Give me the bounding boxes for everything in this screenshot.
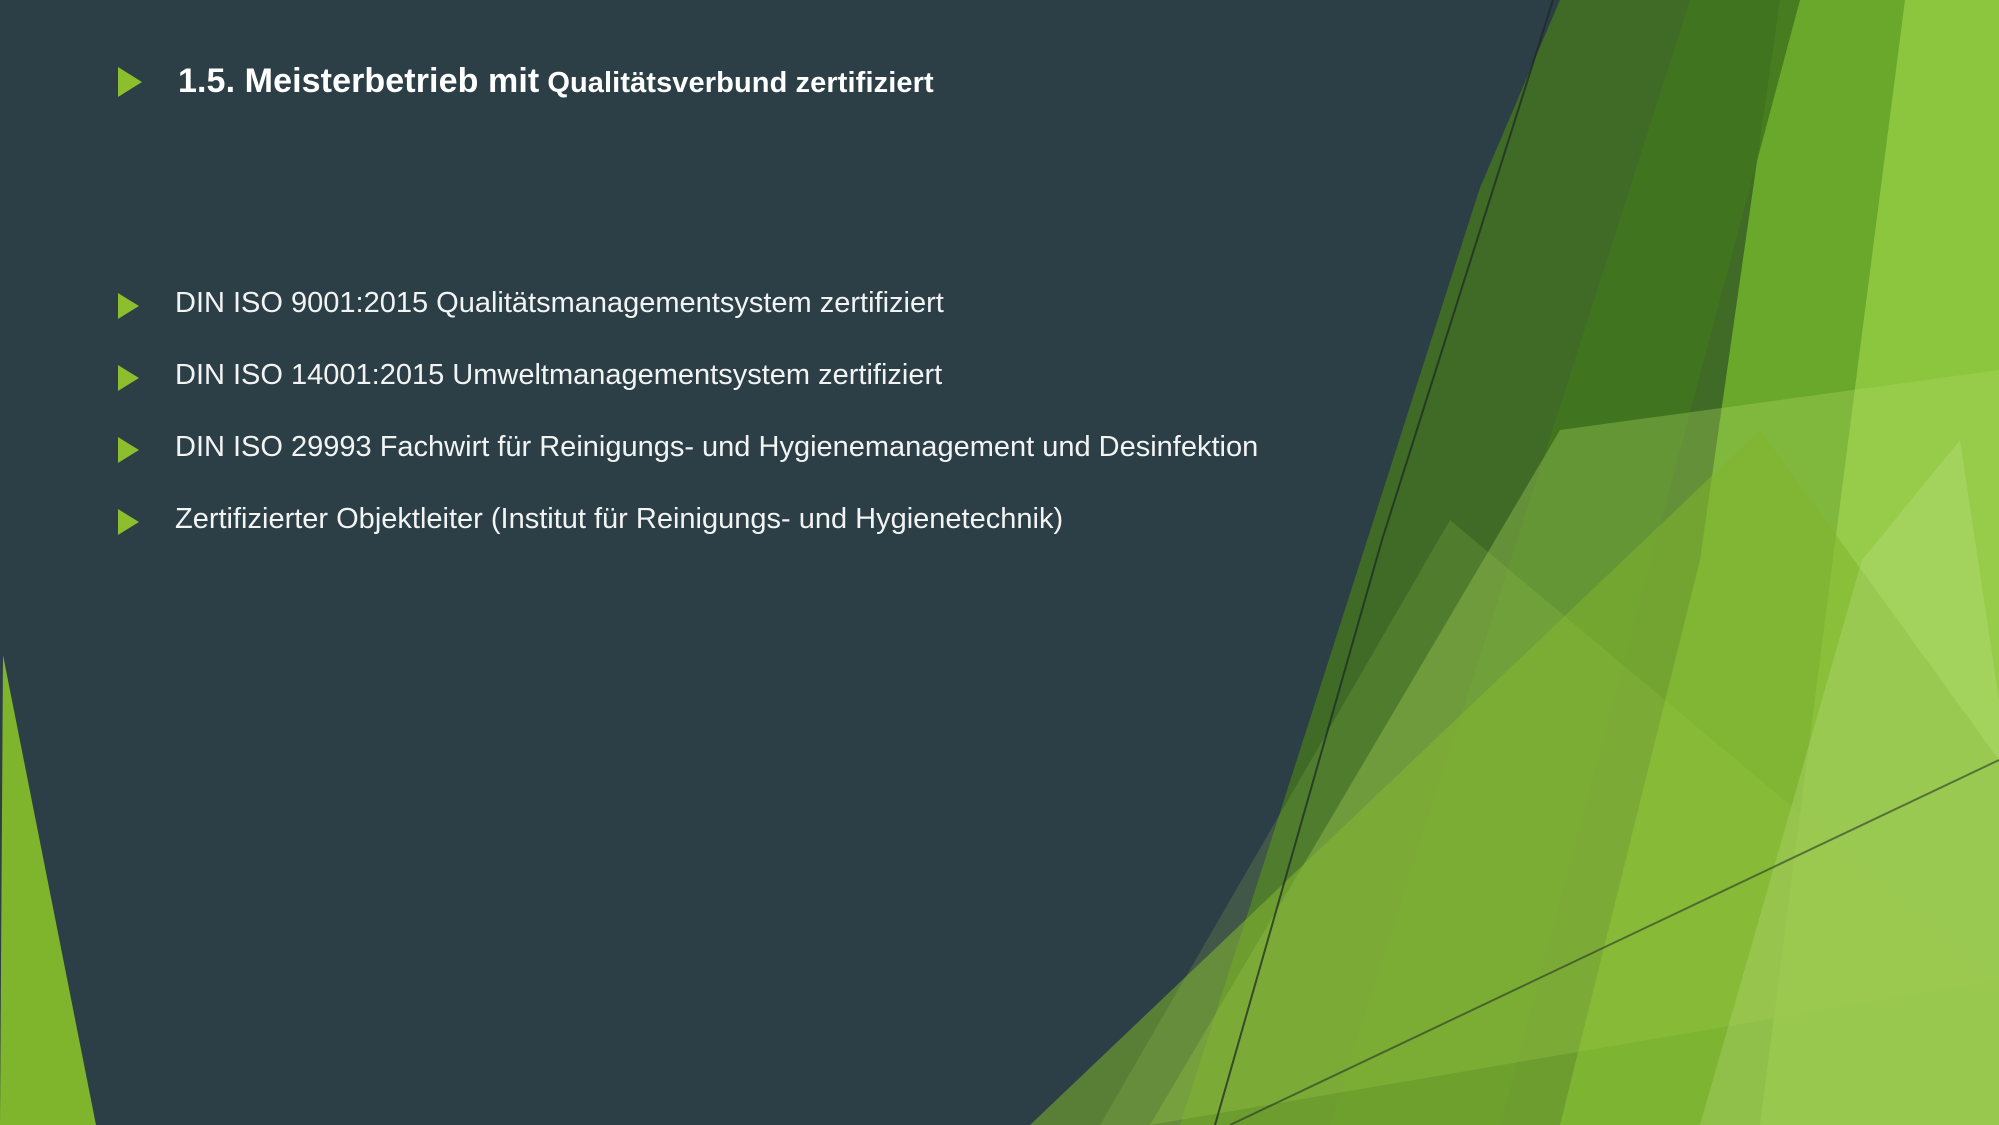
list-item: DIN ISO 14001:2015 Umweltmanagementsyste…: [118, 362, 1498, 396]
green-triangle-bullet-icon: [118, 67, 142, 97]
facet-highlight-triangle: [1700, 440, 1999, 1125]
green-triangle-bullet-icon: [118, 437, 139, 463]
list-item: DIN ISO 9001:2015 Qualitätsmanagementsys…: [118, 290, 1498, 324]
presentation-slide: 1.5. Meisterbetrieb mitQualitätsverbund …: [0, 0, 1999, 1125]
list-item-label: DIN ISO 29993 Fachwirt für Reinigungs- u…: [175, 430, 1258, 464]
green-triangle-bullet-icon: [118, 509, 139, 535]
page-title: 1.5. Meisterbetrieb mitQualitätsverbund …: [178, 62, 934, 101]
list-item: DIN ISO 29993 Fachwirt für Reinigungs- u…: [118, 434, 1498, 468]
title-sub-text: Qualitätsverbund zertifiziert: [547, 67, 933, 99]
list-item: Zertifizierter Objektleiter (Institut fü…: [118, 506, 1498, 540]
list-item-label: DIN ISO 9001:2015 Qualitätsmanagementsys…: [175, 286, 944, 320]
slide-content: 1.5. Meisterbetrieb mitQualitätsverbund …: [0, 0, 1520, 1125]
list-item-label: DIN ISO 14001:2015 Umweltmanagementsyste…: [175, 358, 942, 392]
title-main-text: 1.5. Meisterbetrieb mit: [178, 62, 539, 100]
facet-lime-column: [1760, 0, 1999, 1125]
facet-grass-column: [1560, 0, 1999, 1125]
green-triangle-bullet-icon: [118, 365, 139, 391]
slide-title: 1.5. Meisterbetrieb mitQualitätsverbund …: [118, 62, 934, 101]
list-item-label: Zertifizierter Objektleiter (Institut fü…: [175, 502, 1063, 536]
green-triangle-bullet-icon: [118, 293, 139, 319]
bullet-list: DIN ISO 9001:2015 Qualitätsmanagementsys…: [118, 290, 1498, 578]
